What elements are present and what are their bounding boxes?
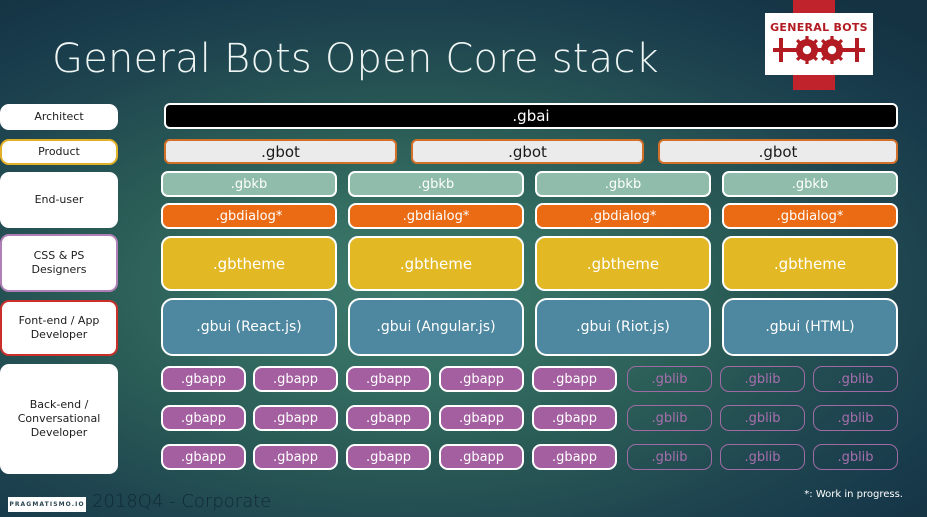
role-label: End-user: [35, 193, 84, 207]
role-label: Font-end / App Developer: [19, 314, 100, 342]
role-label: Product: [38, 145, 80, 159]
general-bots-logo: GENERAL BOTS: [765, 13, 873, 75]
stack-cell-gblib[interactable]: .gblib: [813, 405, 898, 431]
stack-cell-gbapp[interactable]: .gbapp: [439, 405, 524, 431]
role-label: Back-end / Conversational Developer: [18, 398, 101, 439]
role-css-ps-designers[interactable]: CSS & PS Designers: [0, 234, 118, 292]
stack-cell-gbapp[interactable]: .gbapp: [346, 405, 431, 431]
stack-cell-gbapp[interactable]: .gbapp: [253, 366, 338, 392]
role-product[interactable]: Product: [0, 139, 118, 165]
stack-cell-gbapp[interactable]: .gbapp: [253, 405, 338, 431]
stack-cell-gbkb[interactable]: .gbkb: [348, 171, 524, 197]
cell-label: .gblib: [651, 450, 687, 465]
cell-label: .gbot: [508, 143, 547, 161]
stack-cell-gbapp[interactable]: .gbapp: [532, 405, 617, 431]
stack-cell-gbui-angular[interactable]: .gbui (Angular.js): [348, 298, 524, 356]
role-backend-conversational-developer[interactable]: Back-end / Conversational Developer: [0, 364, 118, 474]
stack-cell-gblib[interactable]: .gblib: [813, 444, 898, 470]
cell-label: .gbtheme: [400, 255, 472, 273]
stack-cell-gbui-html[interactable]: .gbui (HTML): [722, 298, 898, 356]
stack-cell-gbai[interactable]: .gbai: [164, 103, 898, 129]
cell-label: .gbapp: [459, 411, 504, 426]
stack-cell-gbkb[interactable]: .gbkb: [161, 171, 337, 197]
stack-cell-gblib[interactable]: .gblib: [627, 444, 712, 470]
stack-cell-gbapp[interactable]: .gbapp: [439, 444, 524, 470]
cell-label: .gbui (HTML): [765, 319, 854, 335]
cell-label: .gbapp: [552, 372, 597, 387]
cell-label: .gbapp: [366, 450, 411, 465]
cell-label: .gblib: [837, 411, 873, 426]
role-architect[interactable]: Architect: [0, 104, 118, 130]
stack-cell-gblib[interactable]: .gblib: [720, 444, 805, 470]
cell-label: .gbkb: [231, 177, 267, 192]
role-label: Architect: [34, 110, 83, 124]
slide-canvas: General Bots Open Core stack GENERAL BOT…: [0, 0, 927, 517]
cell-label: .gblib: [744, 372, 780, 387]
stack-cell-gbapp[interactable]: .gbapp: [439, 366, 524, 392]
cell-label: .gbdialog*: [777, 209, 844, 224]
stack-cell-gblib[interactable]: .gblib: [813, 366, 898, 392]
cell-label: .gbapp: [552, 411, 597, 426]
cell-label: .gblib: [837, 372, 873, 387]
page-title: General Bots Open Core stack: [52, 36, 659, 82]
cell-label: .gbdialog*: [590, 209, 657, 224]
stack-cell-gbapp[interactable]: .gbapp: [532, 366, 617, 392]
stack-cell-gbot[interactable]: .gbot: [411, 139, 644, 164]
cell-label: .gbot: [261, 143, 300, 161]
stack-cell-gblib[interactable]: .gblib: [627, 405, 712, 431]
stack-cell-gbapp[interactable]: .gbapp: [346, 444, 431, 470]
role-frontend-app-developer[interactable]: Font-end / App Developer: [0, 300, 118, 356]
stack-cell-gbdialog[interactable]: .gbdialog*: [161, 203, 337, 229]
logo-wordmark: GENERAL BOTS: [770, 22, 868, 33]
footer-caption: 2018Q4 - Corporate: [92, 491, 271, 512]
stack-cell-gbkb[interactable]: .gbkb: [535, 171, 711, 197]
stack-cell-gbtheme[interactable]: .gbtheme: [535, 236, 711, 291]
cell-label: .gblib: [744, 411, 780, 426]
cell-label: .gbkb: [792, 177, 828, 192]
stack-cell-gbdialog[interactable]: .gbdialog*: [348, 203, 524, 229]
stack-cell-gblib[interactable]: .gblib: [627, 366, 712, 392]
gears-mark-icon: [773, 34, 865, 66]
cell-label: .gbapp: [366, 372, 411, 387]
cell-label: .gbapp: [181, 411, 226, 426]
role-label: CSS & PS Designers: [32, 249, 87, 277]
cell-label: .gbkb: [605, 177, 641, 192]
stack-cell-gblib[interactable]: .gblib: [720, 405, 805, 431]
cell-label: .gbapp: [273, 411, 318, 426]
cell-label: .gbtheme: [587, 255, 659, 273]
pragmatismo-logo: PRAGMATISMO.IO: [8, 497, 86, 512]
cell-label: .gbapp: [459, 372, 504, 387]
cell-label: .gbapp: [273, 450, 318, 465]
stack-cell-gbapp[interactable]: .gbapp: [161, 405, 246, 431]
stack-cell-gbdialog[interactable]: .gbdialog*: [722, 203, 898, 229]
cell-label: .gbapp: [366, 411, 411, 426]
cell-label: .gbapp: [273, 372, 318, 387]
cell-label: .gblib: [651, 411, 687, 426]
cell-label: .gblib: [744, 450, 780, 465]
cell-label: .gbapp: [459, 450, 504, 465]
cell-label: .gbkb: [418, 177, 454, 192]
stack-cell-gbapp[interactable]: .gbapp: [532, 444, 617, 470]
cell-label: .gbtheme: [213, 255, 285, 273]
cell-label: .gbot: [759, 143, 798, 161]
stack-cell-gbdialog[interactable]: .gbdialog*: [535, 203, 711, 229]
stack-cell-gbui-riot[interactable]: .gbui (Riot.js): [535, 298, 711, 356]
stack-cell-gbapp[interactable]: .gbapp: [253, 444, 338, 470]
stack-cell-gbot[interactable]: .gbot: [164, 139, 397, 164]
cell-label: .gbai: [512, 107, 549, 125]
cell-label: .gbapp: [552, 450, 597, 465]
stack-cell-gbapp[interactable]: .gbapp: [161, 366, 246, 392]
cell-label: .gbui (Angular.js): [376, 319, 495, 335]
footnote-work-in-progress: *: Work in progress.: [804, 489, 903, 500]
stack-cell-gbui-react[interactable]: .gbui (React.js): [161, 298, 337, 356]
cell-label: .gbapp: [181, 372, 226, 387]
stack-cell-gbkb[interactable]: .gbkb: [722, 171, 898, 197]
cell-label: .gblib: [837, 450, 873, 465]
cell-label: .gbtheme: [774, 255, 846, 273]
cell-label: .gbdialog*: [403, 209, 470, 224]
cell-label: .gbdialog*: [216, 209, 283, 224]
stack-cell-gbtheme[interactable]: .gbtheme: [161, 236, 337, 291]
cell-label: .gblib: [651, 372, 687, 387]
stack-cell-gbtheme[interactable]: .gbtheme: [348, 236, 524, 291]
cell-label: .gbui (Riot.js): [576, 319, 670, 335]
stack-cell-gblib[interactable]: .gblib: [720, 366, 805, 392]
cell-label: .gbapp: [181, 450, 226, 465]
cell-label: .gbui (React.js): [196, 319, 301, 335]
stack-cell-gbtheme[interactable]: .gbtheme: [722, 236, 898, 291]
pragmatismo-logo-label: PRAGMATISMO.IO: [9, 501, 84, 508]
role-end-user[interactable]: End-user: [0, 172, 118, 228]
stack-cell-gbapp[interactable]: .gbapp: [161, 444, 246, 470]
stack-cell-gbapp[interactable]: .gbapp: [346, 366, 431, 392]
stack-cell-gbot[interactable]: .gbot: [658, 139, 898, 164]
